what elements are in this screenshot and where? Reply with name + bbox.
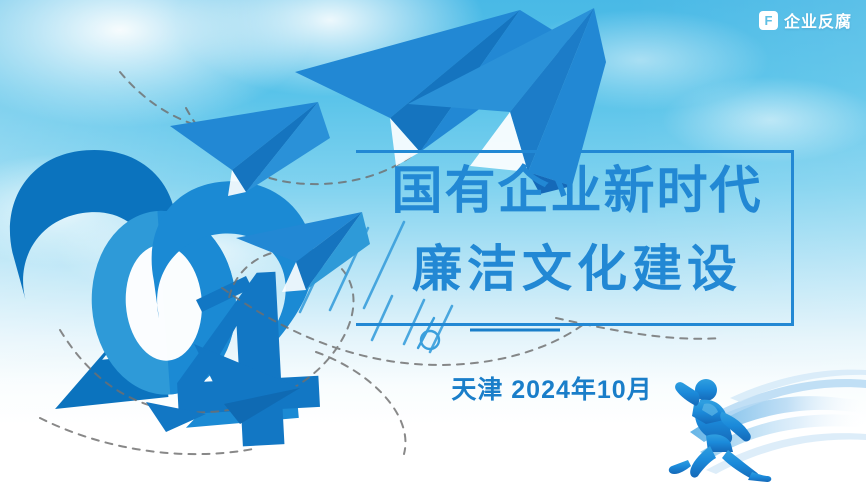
title-line-1: 国有企业新时代 [352, 152, 802, 230]
watermark-label: 企业反腐 [784, 8, 852, 32]
year-2024-graphic [2, 142, 328, 450]
title-block: 国有企业新时代 廉洁文化建设 [352, 152, 802, 308]
title-line-2: 廉洁文化建设 [352, 230, 802, 308]
presentation-slide: F 企业反腐 国有企业新时代 廉洁文化建设 天津 2024年10月 [0, 0, 866, 483]
watermark: F 企业反腐 [759, 8, 852, 32]
subtitle-location-date: 天津 2024年10月 [352, 370, 752, 406]
f-logo-icon: F [759, 11, 778, 30]
paper-plane-small-left [170, 102, 330, 196]
